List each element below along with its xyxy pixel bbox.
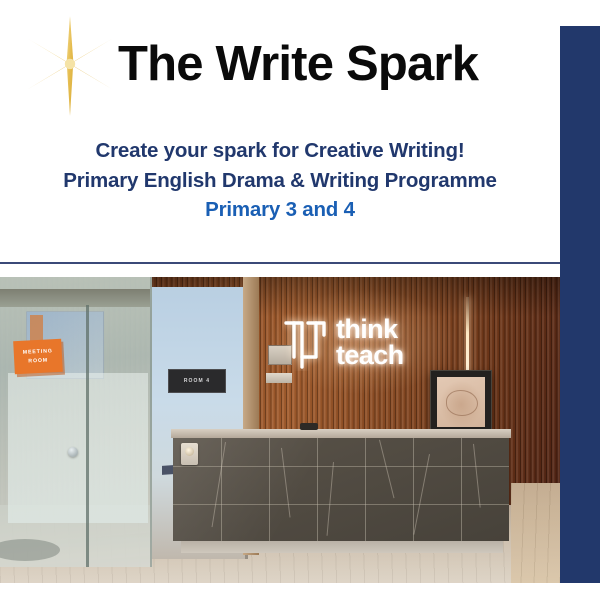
title-row: The Write Spark [0,16,548,112]
tt-monogram-icon [282,313,328,371]
counter-seam [269,438,270,541]
floor-right-strip [511,483,560,583]
room-plaque: ROOM 4 [168,369,226,393]
neon-sign-line2: teach [336,342,404,368]
artwork-swirl [446,390,479,416]
header-text-block: The Write Spark Create your spark for Cr… [0,0,560,263]
neon-sign-line1: think [336,316,404,342]
navy-sidebar-band [560,26,600,583]
marble-vein [379,440,395,499]
counter-marble-face [173,438,509,541]
frosted-glass-panel [8,373,148,523]
reception-counter [171,429,511,553]
subtitle-block: Create your spark for Creative Writing! … [0,136,560,225]
meeting-room-sign-line2: ROOM [28,356,48,365]
meeting-room-sign: MEETING ROOM [13,339,63,374]
glass-mullion [86,305,89,567]
desk-accessory [300,423,318,430]
marble-vein [473,444,481,508]
framed-artwork [430,370,492,434]
subtitle-line-1: Create your spark for Creative Writing! [0,136,560,166]
neon-sign-text: think teach [336,316,404,369]
neon-brand-sign: think teach [282,303,442,381]
marble-vein [327,462,335,536]
counter-seam [413,438,414,541]
poster-canvas: The Write Spark Create your spark for Cr… [0,0,600,600]
counter-seam [365,438,366,541]
counter-seam [461,438,462,541]
card-reader[interactable] [181,443,198,465]
room-plaque-label: ROOM 4 [184,378,210,384]
glass-partition: MEETING ROOM [0,277,152,567]
floor-mat [0,539,60,561]
artwork-canvas [437,377,485,427]
counter-seam [173,466,509,467]
counter-top-surface [171,429,511,438]
marble-vein [212,442,227,527]
subtitle-line-2: Primary English Drama & Writing Programm… [0,166,560,196]
counter-seam [173,504,509,505]
header-divider [0,262,560,264]
counter-seam [221,438,222,541]
subtitle-line-3-level: Primary 3 and 4 [0,195,560,225]
marble-vein [281,448,291,518]
partition-header-rail [0,289,150,307]
page-title: The Write Spark [118,40,478,89]
reception-photo: ROOM 4 MEETING ROOM [0,277,560,583]
spark-star-icon [18,14,122,118]
counter-kickplate [181,541,503,553]
door-handle-icon [68,447,78,457]
counter-seam [317,438,318,541]
